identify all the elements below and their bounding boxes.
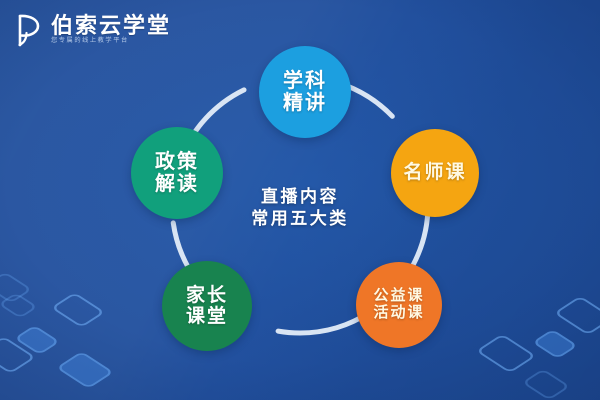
node-subject[interactable]: 学科 精讲 bbox=[259, 46, 351, 138]
node-famous-teacher-line1: 名师课 bbox=[403, 162, 466, 183]
node-parent-class[interactable]: 家长 课堂 bbox=[162, 261, 252, 351]
node-public-activity-line1: 公益课 bbox=[373, 288, 424, 305]
node-policy-line1: 政策 bbox=[155, 151, 199, 173]
node-policy[interactable]: 政策 解读 bbox=[131, 127, 223, 219]
node-subject-line2: 精讲 bbox=[283, 92, 327, 114]
node-subject-line1: 学科 bbox=[283, 70, 327, 92]
node-famous-teacher[interactable]: 名师课 bbox=[391, 129, 479, 217]
node-public-activity[interactable]: 公益课 活动课 bbox=[356, 262, 442, 348]
poster-canvas: 伯索云学堂 您专属的线上教学平台 学科 精讲 名师课 公益课 活动课 家长 课堂 bbox=[0, 0, 600, 400]
node-policy-line2: 解读 bbox=[155, 173, 199, 195]
node-parent-class-line1: 家长 bbox=[186, 285, 228, 306]
node-public-activity-line2: 活动课 bbox=[373, 305, 424, 322]
five-category-diagram: 学科 精讲 名师课 公益课 活动课 家长 课堂 政策 解读 直播内容 常用五大类 bbox=[0, 0, 600, 400]
node-parent-class-line2: 课堂 bbox=[186, 306, 228, 327]
